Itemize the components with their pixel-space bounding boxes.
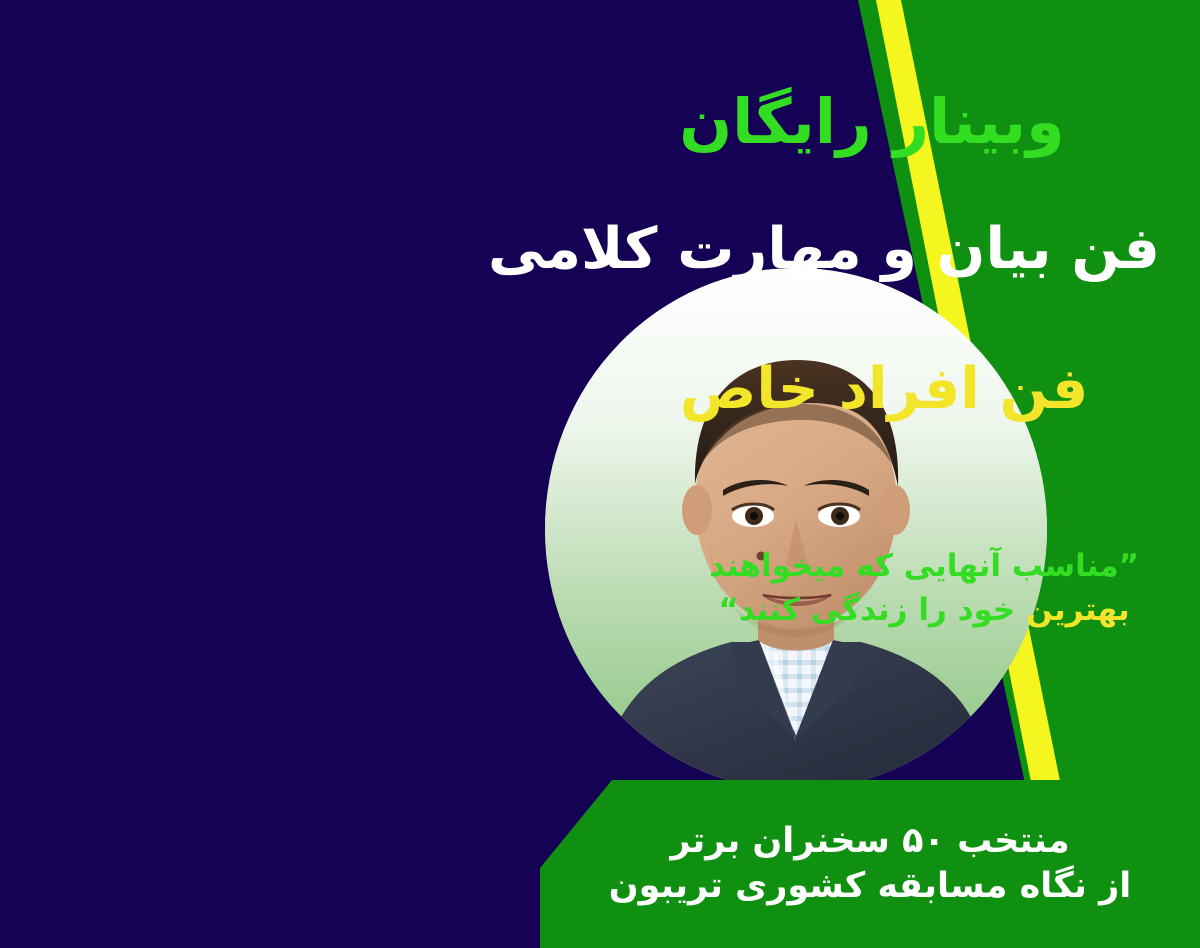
quote-line-2: بهترین خود را زندگی کنند“ <box>664 588 1184 632</box>
headline-free-webinar: وبینار رایگان <box>592 88 1152 156</box>
quote-block: ”مناسب آنهایی که میخواهند بهترین خود را … <box>664 544 1184 632</box>
quote-open-mark: ” <box>1119 548 1139 584</box>
headline-subtopic: فن افراد خاص <box>664 358 1104 421</box>
quote-text-part2: خود را زندگی کنند <box>739 592 1016 628</box>
award-badge-line-2: از نگاه مسابقه کشوری تریبون <box>609 866 1131 907</box>
award-badge-line-1: منتخب ۵۰ سخنران برتر <box>670 821 1069 862</box>
webinar-poster: وبینار رایگان فن بیان و مهارت کلامی فن ا… <box>0 0 1200 948</box>
award-badge-panel: منتخب ۵۰ سخنران برتر از نگاه مسابقه کشور… <box>540 780 1200 948</box>
portrait-illustration <box>545 268 1047 790</box>
speaker-portrait <box>545 268 1047 790</box>
quote-close-mark: “ <box>718 592 738 628</box>
quote-highlight: بهترین <box>1026 592 1130 628</box>
quote-text-part1: مناسب آنهایی که میخواهند <box>709 548 1119 584</box>
quote-line-1: ”مناسب آنهایی که میخواهند <box>664 544 1184 588</box>
headline-topic: فن بیان و مهارت کلامی <box>540 218 1160 281</box>
